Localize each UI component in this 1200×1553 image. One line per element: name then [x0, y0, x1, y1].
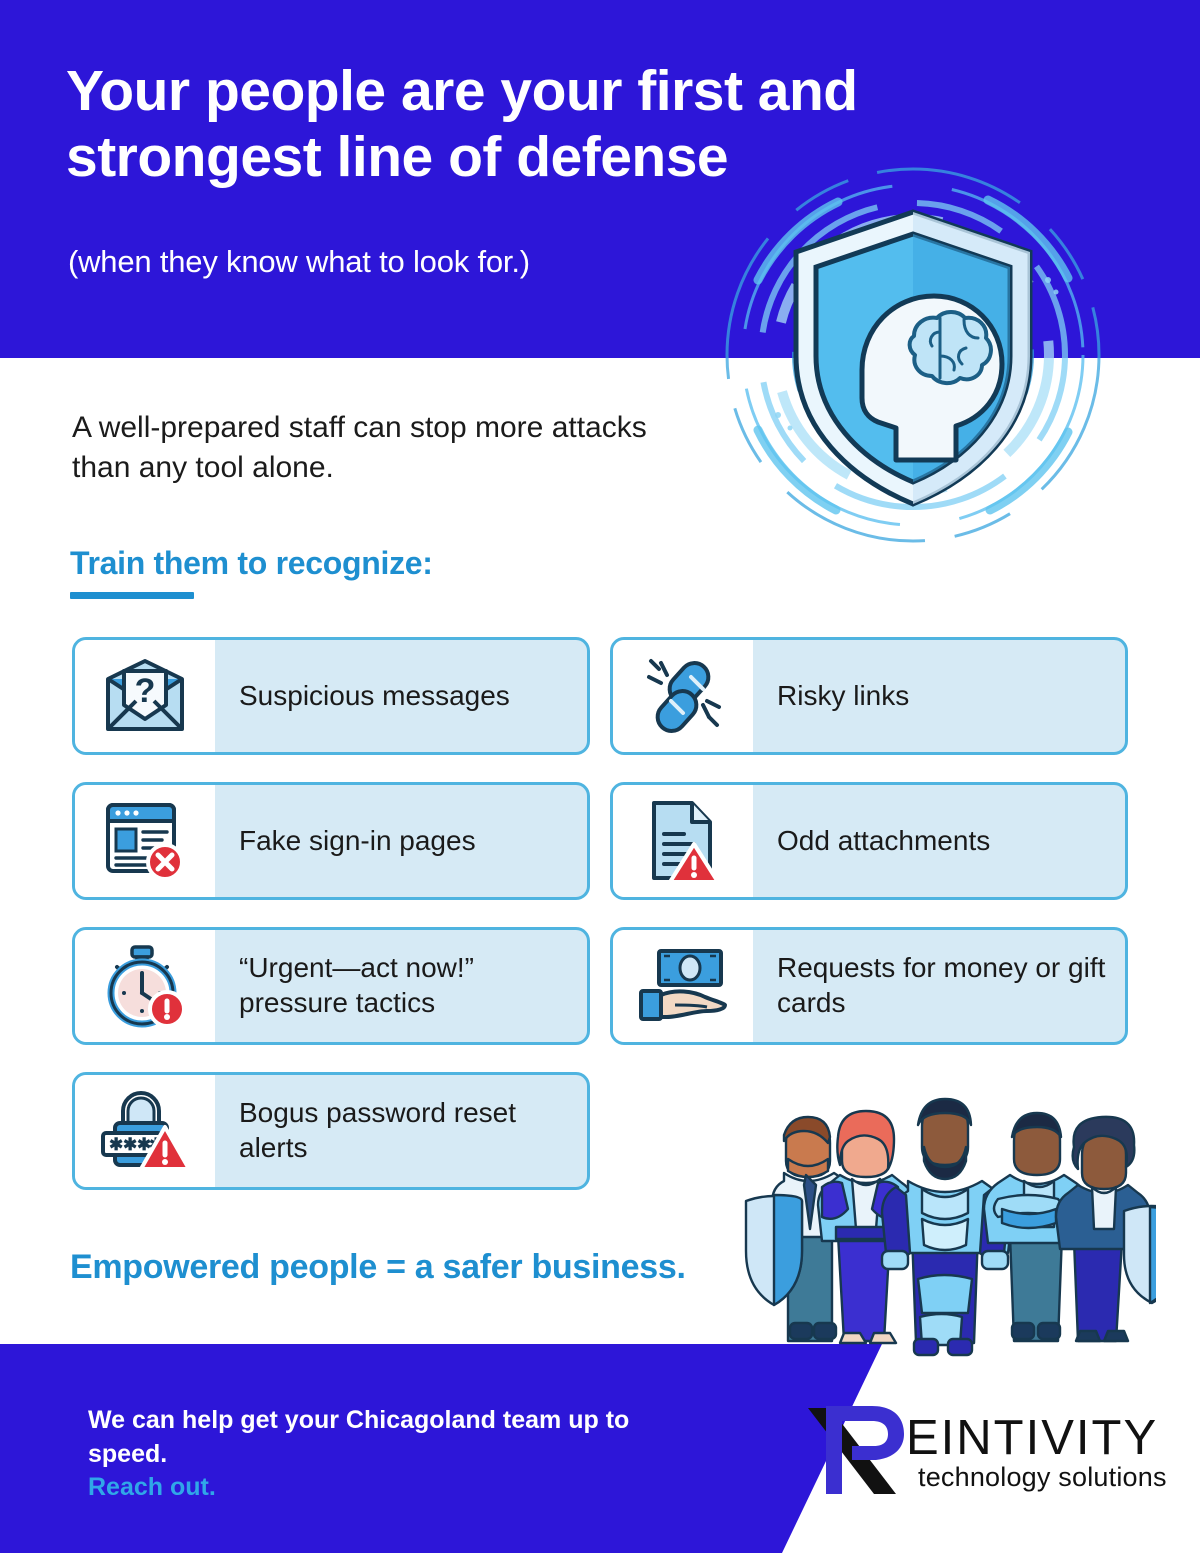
svg-text:✱: ✱: [123, 1135, 137, 1154]
document-warning-icon: [613, 785, 753, 897]
footer-message-line1: We can help get your Chicagoland team: [88, 1406, 561, 1434]
list-item-label: Bogus password reset alerts: [215, 1096, 587, 1165]
reach-out-link[interactable]: Reach out.: [88, 1471, 698, 1505]
tagline: Empowered people = a safer business.: [70, 1248, 686, 1287]
list-item[interactable]: “Urgent—act now!” pressure tactics: [72, 927, 590, 1045]
logo-tagline: technology solutions: [918, 1462, 1167, 1493]
page-subtitle: (when they know what to look for.): [68, 244, 530, 280]
list-item[interactable]: Odd attachments: [610, 782, 1128, 900]
svg-text:?: ?: [135, 672, 156, 710]
browser-window-error-icon: [75, 785, 215, 897]
list-item-label: Risky links: [753, 679, 1125, 714]
list-item-label: Odd attachments: [753, 824, 1125, 859]
list-item-label: Suspicious messages: [215, 679, 587, 714]
section-underline: [70, 592, 194, 599]
padlock-password-warning-icon: ✱✱✱✱: [75, 1075, 215, 1187]
intro-paragraph: A well-prepared staff can stop more atta…: [72, 408, 672, 487]
list-item-label: “Urgent—act now!” pressure tactics: [215, 951, 587, 1020]
svg-text:✱: ✱: [109, 1135, 123, 1154]
list-item-label: Requests for money or gift cards: [753, 951, 1125, 1020]
reintivity-r-mark-icon: [800, 1402, 920, 1498]
reintivity-logo[interactable]: EINTIVITY technology solutions: [800, 1400, 1175, 1510]
list-item-label: Fake sign-in pages: [215, 824, 587, 859]
envelope-question-icon: ?: [75, 640, 215, 752]
list-item[interactable]: Risky links: [610, 637, 1128, 755]
superhero-team-icon: [726, 1083, 1156, 1368]
logo-wordmark: EINTIVITY: [906, 1410, 1158, 1466]
section-heading: Train them to recognize:: [70, 545, 433, 582]
list-item[interactable]: Fake sign-in pages: [72, 782, 590, 900]
stopwatch-alert-icon: [75, 930, 215, 1042]
list-item[interactable]: ✱✱✱✱ Bogus password reset alerts: [72, 1072, 590, 1190]
broken-chain-link-icon: [613, 640, 753, 752]
list-item[interactable]: Requests for money or gift cards: [610, 927, 1128, 1045]
hand-money-icon: [613, 930, 753, 1042]
shield-brain-head-icon: [718, 160, 1108, 550]
footer-message: We can help get your Chicagoland team up…: [88, 1404, 698, 1505]
list-item[interactable]: ? Suspicious messages: [72, 637, 590, 755]
